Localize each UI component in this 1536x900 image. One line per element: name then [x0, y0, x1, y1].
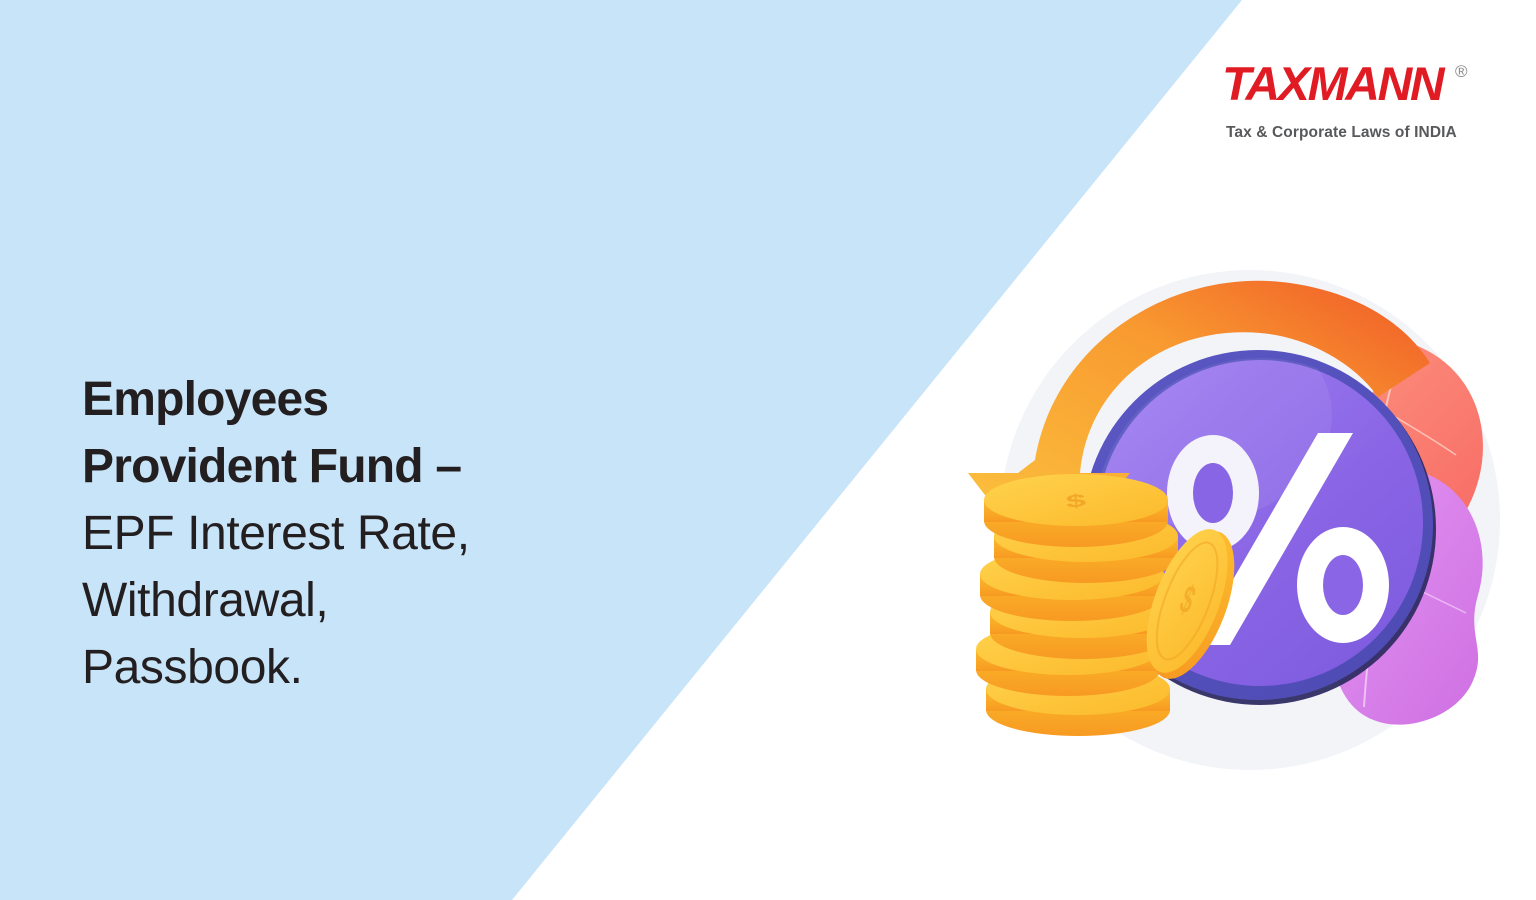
- headline-line-1: Employees: [82, 366, 642, 433]
- taxmann-wordmark: TAXMANN: [1222, 62, 1442, 107]
- coin-stack: $: [976, 474, 1178, 736]
- svg-text:$: $: [1065, 490, 1087, 512]
- headline-line-5: Passbook.: [82, 634, 642, 701]
- registered-trademark-icon: ®: [1455, 62, 1468, 82]
- epf-interest-illustration: $ $: [960, 245, 1520, 790]
- banner-canvas: TAXMANN ® Tax & Corporate Laws of INDIA …: [0, 0, 1536, 900]
- headline-line-4: Withdrawal,: [82, 567, 642, 634]
- coin-1-top: $: [984, 474, 1168, 547]
- headline-line-2: Provident Fund –: [82, 433, 642, 500]
- taxmann-logo: TAXMANN: [1222, 62, 1482, 107]
- headline-line-3: EPF Interest Rate,: [82, 500, 642, 567]
- taxmann-tagline: Tax & Corporate Laws of INDIA: [1226, 124, 1457, 142]
- page-title: Employees Provident Fund – EPF Interest …: [82, 366, 642, 701]
